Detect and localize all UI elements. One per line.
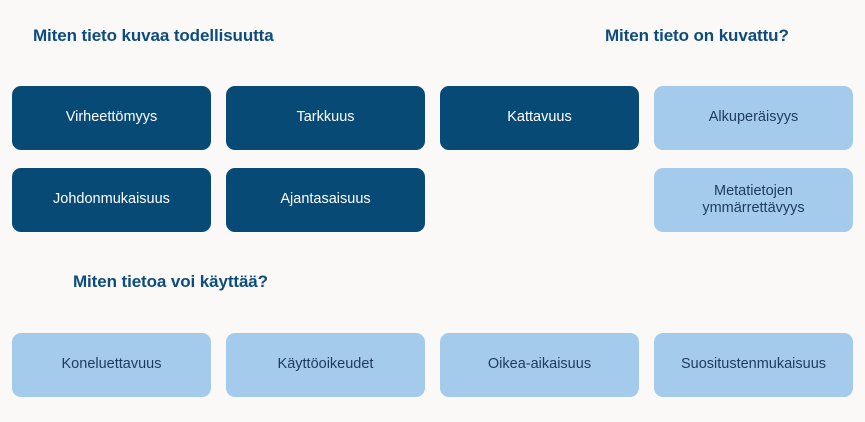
infographic-canvas: Miten tieto kuvaa todellisuutta Miten ti… [0, 0, 865, 422]
card-alkuperaisyys[interactable]: Alkuperäisyys [654, 86, 853, 150]
card-kayttooikeudet[interactable]: Käyttöoikeudet [226, 333, 425, 397]
card-grid-bottom: Koneluettavuus Käyttöoikeudet Oikea-aika… [12, 333, 853, 397]
card-tarkkuus[interactable]: Tarkkuus [226, 86, 425, 150]
card-kattavuus[interactable]: Kattavuus [440, 86, 639, 150]
heading-data-described: Miten tieto on kuvattu? [605, 27, 789, 44]
card-johdonmukaisuus[interactable]: Johdonmukaisuus [12, 168, 211, 232]
card-suositustenmukaisuus[interactable]: Suositustenmukaisuus [654, 333, 853, 397]
heading-data-usable: Miten tietoa voi käyttää? [73, 273, 268, 290]
heading-data-quality: Miten tieto kuvaa todellisuutta [33, 27, 274, 44]
card-koneluettavuus[interactable]: Koneluettavuus [12, 333, 211, 397]
card-ajantasaisuus[interactable]: Ajantasaisuus [226, 168, 425, 232]
card-oikea-aikaisuus[interactable]: Oikea-aikaisuus [440, 333, 639, 397]
card-virheettomyys[interactable]: Virheettömyys [12, 86, 211, 150]
card-grid-top: Virheettömyys Tarkkuus Kattavuus Alkuper… [12, 86, 853, 232]
card-metatietojen-ymmarrettavyys[interactable]: Metatietojen ymmärrettävyys [654, 168, 853, 232]
